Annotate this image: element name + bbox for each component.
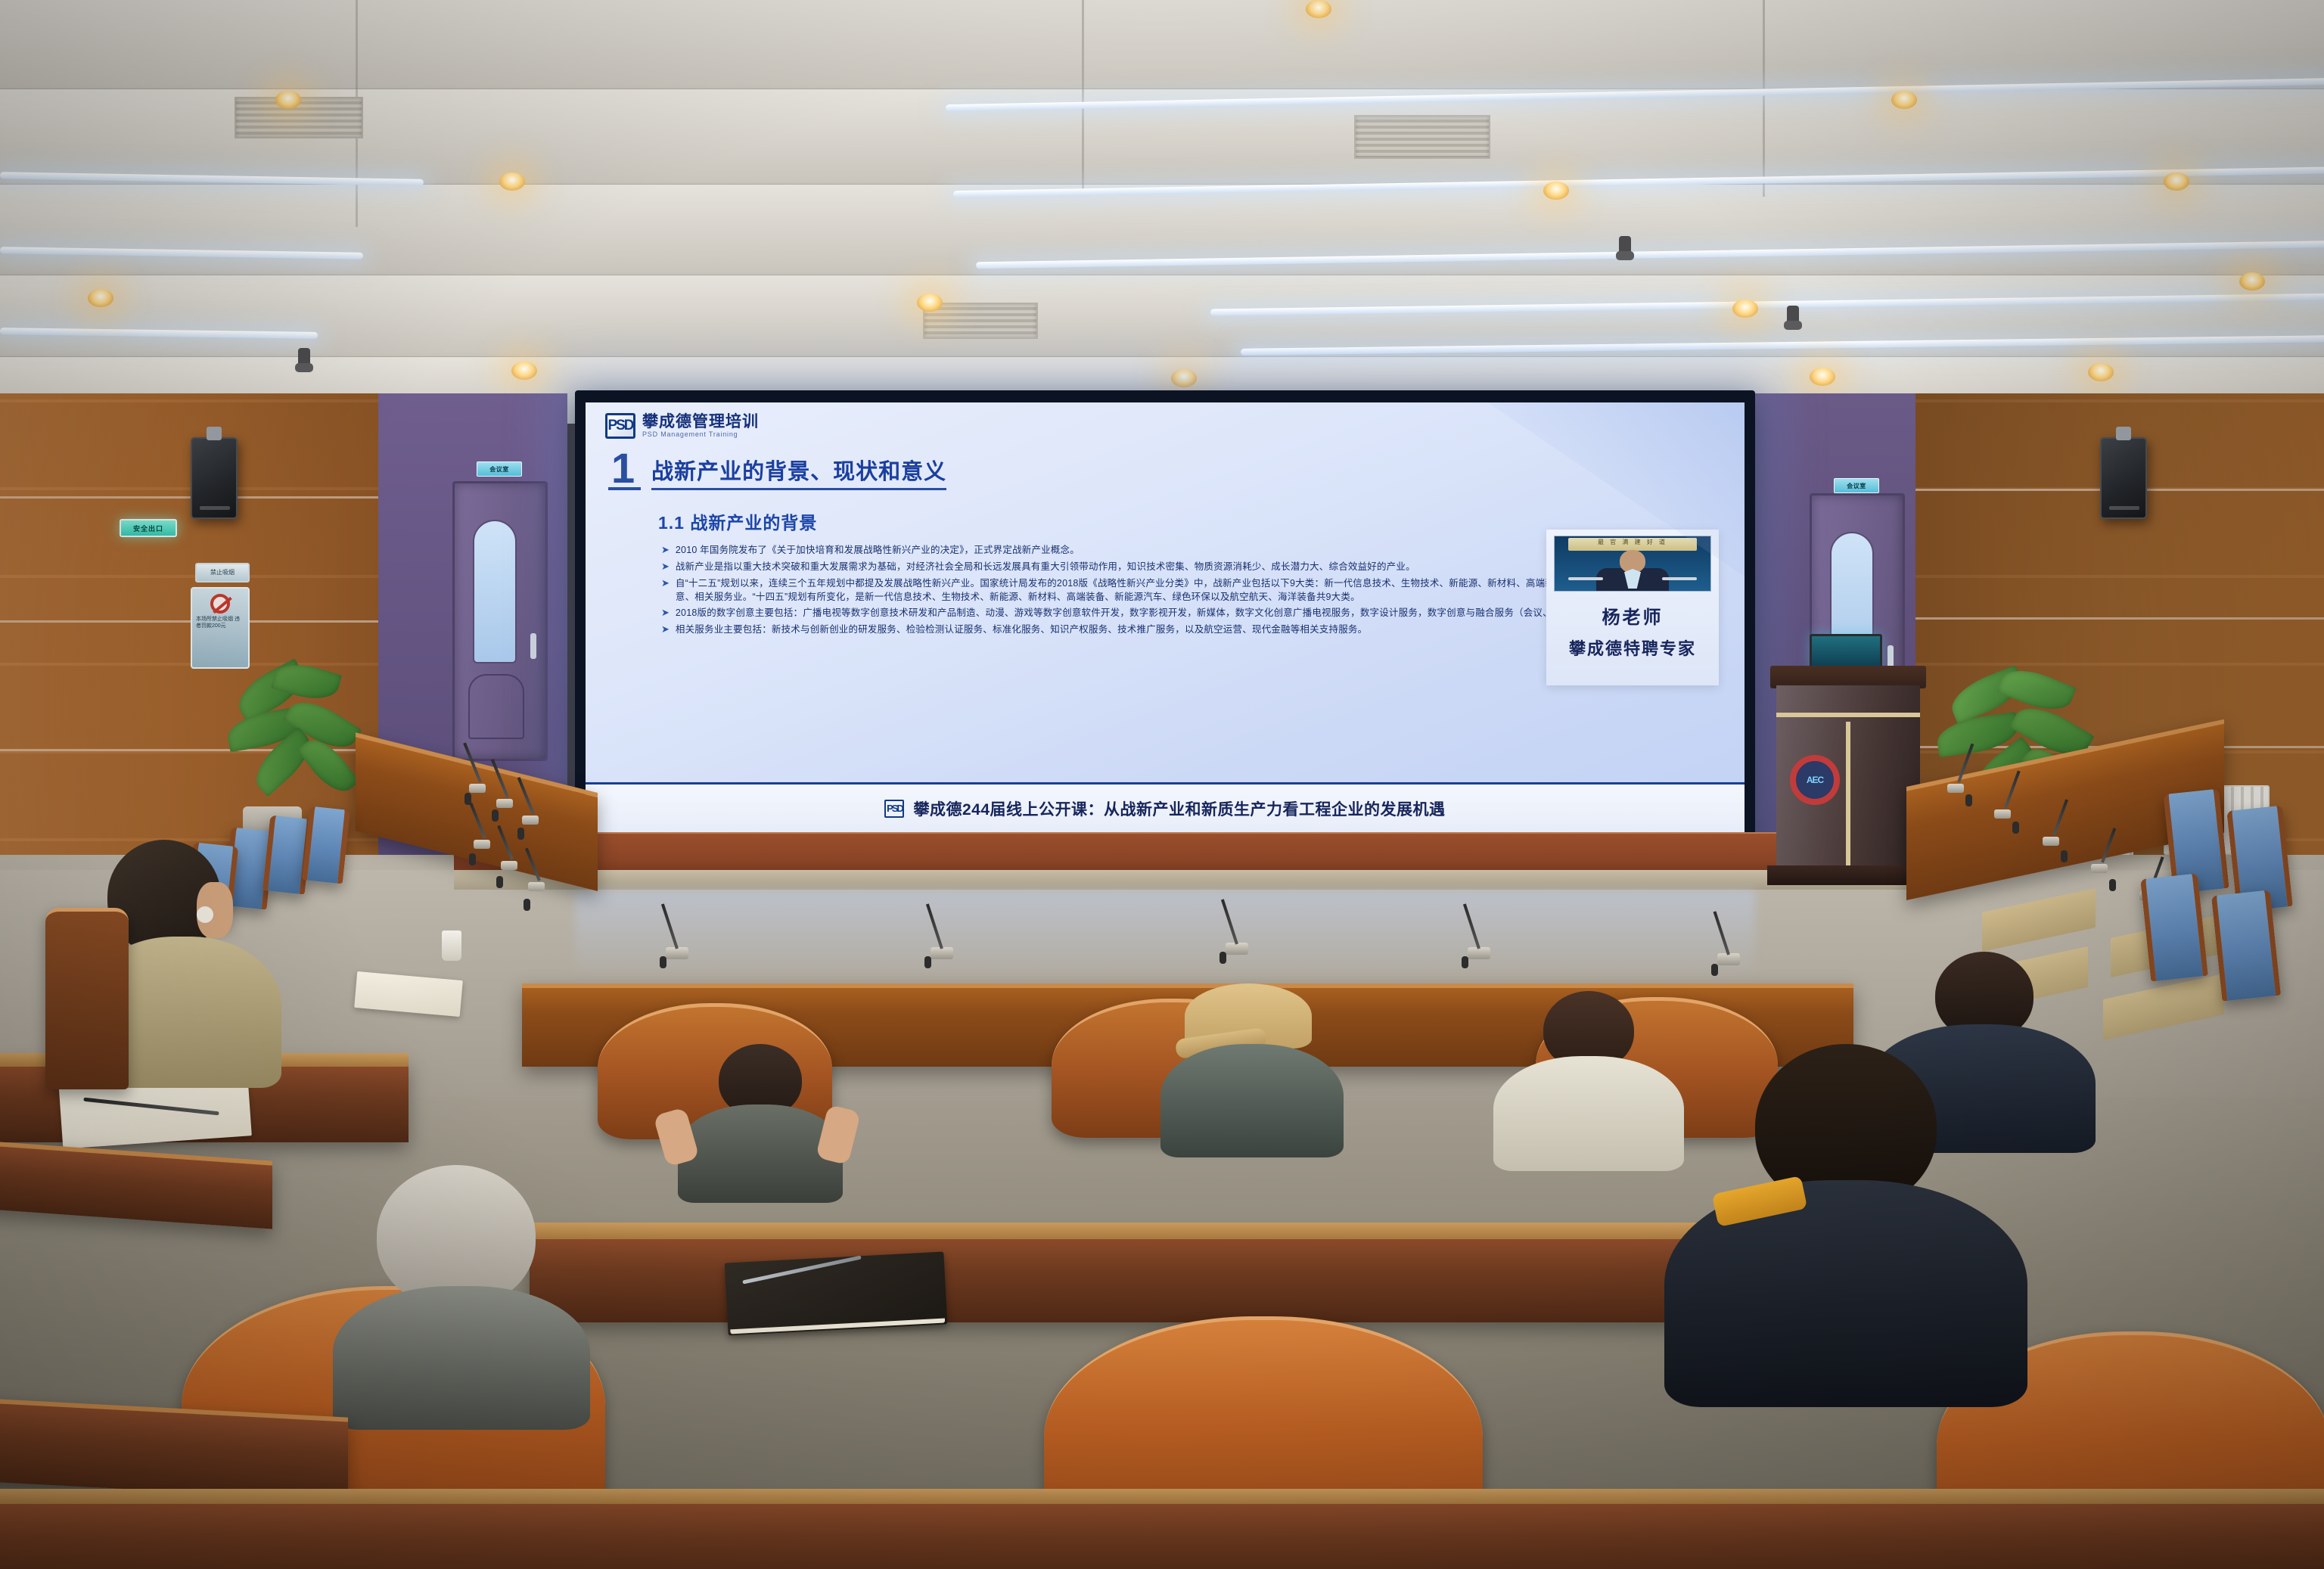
slide-section-number: 1 [608, 451, 641, 490]
smoking-placard: 禁止吸烟 [195, 563, 250, 583]
ceiling-light [88, 289, 113, 307]
ceiling-light [499, 172, 525, 191]
bullet-arrow-icon: ➤ [661, 543, 670, 558]
wall-speaker-left [191, 437, 238, 519]
person-shoulders [1160, 1044, 1344, 1157]
attendee-beige-cap [1157, 983, 1347, 1150]
wall-speaker-right [2100, 437, 2147, 519]
bullet-arrow-icon: ➤ [661, 576, 670, 604]
ceiling-light [511, 362, 537, 380]
person-hand [816, 1105, 861, 1166]
speaker-role: 攀成德特聘专家 [1546, 635, 1719, 660]
speaker-mic [1568, 577, 1603, 580]
side-chair[interactable] [2211, 890, 2281, 1001]
left-door[interactable] [452, 481, 548, 761]
speaker-video-banner: 最 官 满 建 好 道 [1568, 538, 1697, 551]
door-glass [473, 520, 517, 663]
left-door-sign: 会议室 [477, 461, 522, 477]
ceiling-light [1891, 91, 1917, 109]
drink-cup[interactable] [442, 931, 461, 961]
slide-canvas: PSD 攀成德管理培训 PSD Management Training 1 战新… [586, 402, 1745, 832]
door-handle[interactable] [530, 633, 536, 659]
front-rail-desk [0, 1498, 2324, 1569]
ceiling-light [1306, 0, 1331, 18]
slide-heading-row: 1 战新产业的背景、现状和意义 [608, 451, 946, 490]
stage-kick-plate [454, 870, 1906, 890]
ceiling-camera [1787, 306, 1799, 325]
bullet-text: 2010 年国务院发布了《关于加快培育和发展战略性新兴产业的决定》，正式界定战新… [676, 543, 1080, 558]
podium-emblem: AEC [1790, 755, 1840, 805]
person-shoulders [333, 1286, 590, 1430]
bullet-arrow-icon: ➤ [661, 623, 670, 637]
attendee-light-coat [1490, 991, 1687, 1165]
slide-subheading: 1.1 战新产业的背景 [658, 508, 817, 534]
earbud [197, 906, 213, 923]
attendee-black-coat [1664, 1044, 2027, 1407]
ceiling-light [2239, 272, 2265, 290]
stage-reflection [575, 890, 1755, 980]
bullet-text: 战新产业是指以重大技术突破和重大发展需求为基础，对经济社会全局和长远发展具有重大… [676, 560, 1415, 574]
no-smoking-text: 本场所禁止吸烟 违者罚款200元 [196, 616, 244, 629]
slide-logo-title-en: PSD Management Training [642, 430, 759, 438]
conference-room-scene: 会议室 安全出口 禁止吸烟 本场所禁止吸烟 违者罚款200元 会议室 [0, 0, 2324, 1569]
podium-vertical-trim [1846, 722, 1850, 873]
psd-logo-mark: PSD [605, 413, 635, 439]
right-door-sign: 会议室 [1834, 478, 1879, 493]
attendee-grey-hair [333, 1165, 590, 1415]
ceiling-vent-center [1354, 115, 1490, 159]
ceiling-camera [1619, 236, 1631, 256]
led-presentation-screen[interactable]: PSD 攀成德管理培训 PSD Management Training 1 战新… [575, 390, 1755, 844]
speaker-name: 杨老师 [1546, 602, 1719, 629]
psd-logo-mark-footer: PSD [884, 800, 904, 818]
ceiling [0, 0, 2324, 424]
speaker-pip-panel: 最 官 满 建 好 道 杨老师 攀成德特聘专家 [1546, 530, 1719, 685]
attendee-raised-hands [666, 1044, 855, 1195]
ceiling-light [2164, 172, 2189, 191]
exit-sign: 安全出口 [120, 519, 177, 537]
bullet-text: 相关服务业主要包括：新技术与创新创业的研发服务、检验检测认证服务、标准化服务、知… [676, 623, 1367, 637]
speaker-video: 最 官 满 建 好 道 [1554, 536, 1711, 592]
ceiling-light [1810, 368, 1835, 386]
slide-logo-title-cn: 攀成德管理培训 [642, 414, 759, 430]
ceiling-camera [298, 348, 310, 368]
podium-monitor[interactable] [1810, 634, 1882, 669]
desk-surface [0, 1489, 2324, 1504]
side-chair[interactable] [302, 806, 350, 884]
side-chair[interactable] [2140, 873, 2208, 981]
speaker-mic [1662, 577, 1697, 580]
bullet-text: 2018版的数字创意主要包括：广播电视等数字创意技术研发和产品制造、动漫、游戏等… [676, 606, 1630, 620]
ceiling-light [275, 91, 301, 109]
slide-heading: 战新产业的背景、现状和意义 [651, 454, 946, 490]
podium-base [1767, 865, 1929, 885]
podium[interactable]: AEC [1776, 666, 1920, 885]
ceiling-light [1732, 300, 1758, 318]
bullet-arrow-icon: ➤ [661, 606, 670, 620]
audience-chair[interactable] [45, 908, 129, 1089]
desk-surface [530, 1223, 1846, 1239]
no-smoking-sign: 本场所禁止吸烟 违者罚款200元 [191, 587, 250, 669]
slide-footer-bar: PSD 攀成德244届线上公开课：从战新产业和新质生产力看工程企业的发展机遇 [586, 782, 1745, 832]
door-panel [468, 674, 524, 739]
ceiling-vent-right [923, 303, 1038, 339]
ceiling-light [1543, 182, 1569, 200]
no-smoking-icon [210, 594, 230, 614]
bullet-arrow-icon: ➤ [661, 560, 670, 574]
slide-footer-text: 攀成德244届线上公开课：从战新产业和新质生产力看工程企业的发展机遇 [913, 797, 1445, 820]
ceiling-light [2088, 363, 2114, 381]
podium-body: AEC [1776, 685, 1920, 865]
ceiling-light [1171, 369, 1197, 387]
slide-logo: PSD 攀成德管理培训 PSD Management Training [605, 413, 759, 439]
podium-trim [1776, 713, 1920, 717]
person-shoulders [1493, 1056, 1684, 1171]
ceiling-light [917, 294, 943, 312]
